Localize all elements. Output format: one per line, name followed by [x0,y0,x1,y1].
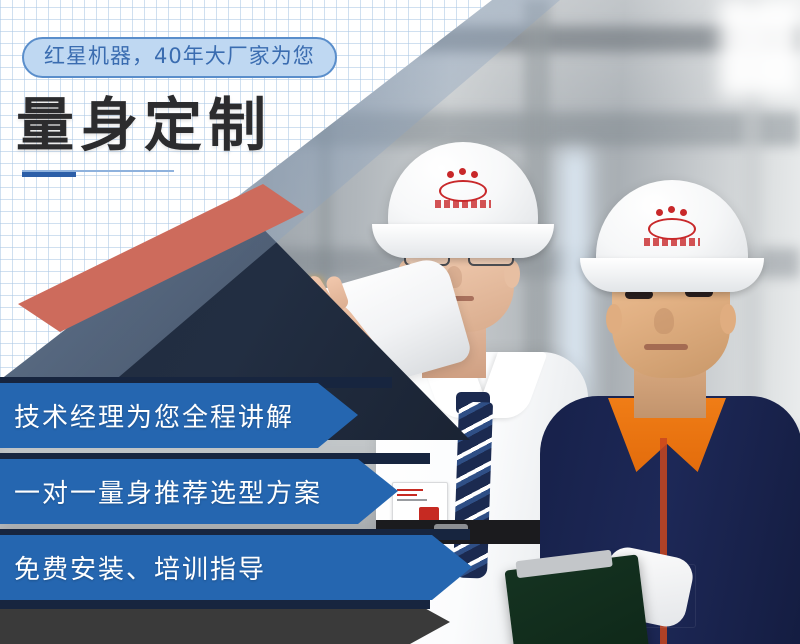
promo-banner: ✱ 红星机器，40年大厂家为您 量身定制 技术经理为您全程讲解 一对一量身推荐选… [0,0,800,644]
window-glare [720,0,800,96]
hard-hat-logo [435,170,491,210]
title-rule-dark [22,172,76,177]
mouth [644,344,688,350]
tagline-badge: 红星机器，40年大厂家为您 [22,37,337,78]
feature-bar-2: 一对一量身推荐选型方案 [0,459,398,524]
nose [654,308,674,334]
feature-label: 免费安装、培训指导 [0,549,266,586]
ear [720,304,736,334]
hard-hat-brim [372,224,554,258]
ear [606,304,622,334]
page-title: 量身定制 [16,96,272,154]
feature-bar-1: 技术经理为您全程讲解 [0,383,358,448]
feature-bar-3: 免费安装、培训指导 [0,535,472,600]
feature-label: 技术经理为您全程讲解 [0,397,294,434]
hard-hat-brim [580,258,764,292]
base-navy-strip [0,600,430,609]
feature-bar-group: 技术经理为您全程讲解 一对一量身推荐选型方案 免费安装、培训指导 [0,377,800,644]
hard-hat-logo [644,208,700,248]
feature-label: 一对一量身推荐选型方案 [0,473,322,510]
